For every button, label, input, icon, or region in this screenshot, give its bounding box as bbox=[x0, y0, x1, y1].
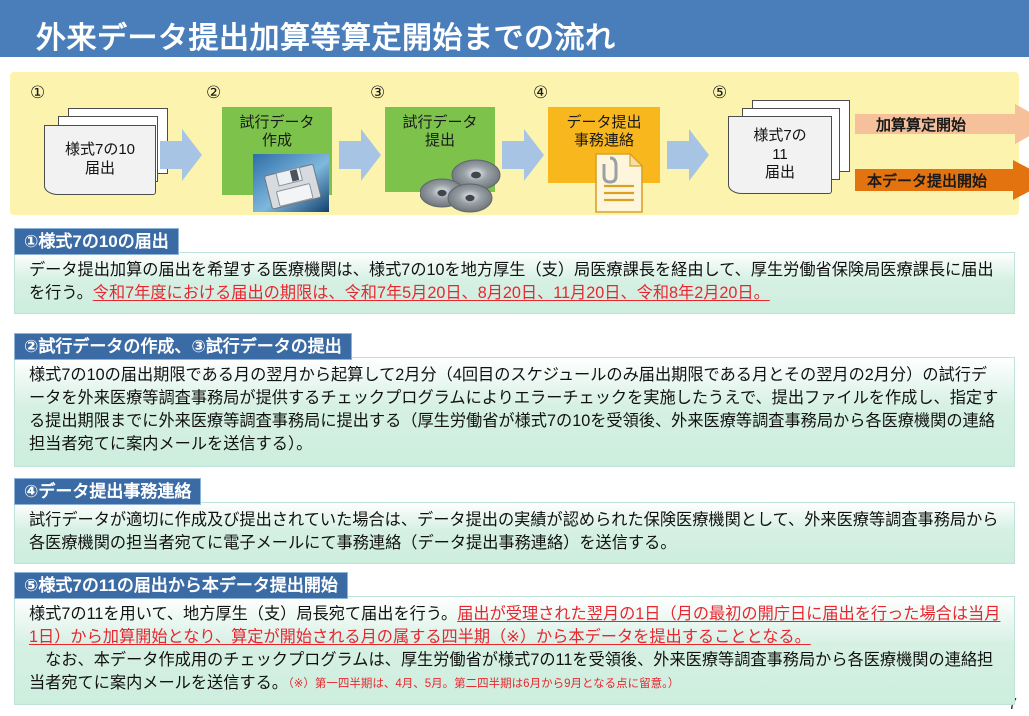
cd-discs-icon bbox=[420, 157, 502, 213]
flow-step-2-number: ② bbox=[206, 84, 221, 101]
section-1: ①様式7の10の届出 データ提出加算の届出を希望する医療機関は、様式7の10を地… bbox=[10, 228, 1019, 324]
flow-arrow-2-icon bbox=[339, 127, 381, 183]
section-1-heading: ①様式7の10の届出 bbox=[14, 228, 179, 255]
page-title: 外来データ提出加算等算定開始までの流れ bbox=[36, 13, 616, 57]
section-3-paragraph: 試行データが適切に作成及び提出されていた場合は、データ提出の実績が認められた保険… bbox=[29, 509, 1002, 555]
document-stack-icon: 様式7の10 届出 bbox=[40, 108, 170, 200]
flow-step-4-number: ④ bbox=[533, 84, 548, 101]
section-1-highlight: 令和7年度における届出の期限は、令和7年5月20日、8月20日、11月20日、令… bbox=[93, 284, 770, 302]
flow-step-5-number: ⑤ bbox=[712, 84, 727, 101]
flow-step-4-label: データ提出 事務連絡 bbox=[548, 114, 660, 150]
section-2-heading: ②試行データの作成、③試行データの提出 bbox=[14, 333, 352, 360]
flow-arrow-3-icon bbox=[502, 127, 544, 183]
result-label-1: 加算算定開始 bbox=[876, 114, 966, 135]
document-stack-icon-2: 様式7の 11 届出 bbox=[722, 100, 852, 200]
section-4-footnote: （※）第一四半期は、4月、5月。第二四半期は6月から9月となる点に留意。） bbox=[288, 678, 679, 690]
section-2: ②試行データの作成、③試行データの提出 様式7の10の届出期限である月の翌月から… bbox=[10, 333, 1019, 467]
section-4-paragraph-2: なお、本データ作成用のチェックプログラムは、厚生労働省が様式7の11を受領後、外… bbox=[29, 649, 1002, 695]
section-4-heading: ⑤様式7の11の届出から本データ提出開始 bbox=[14, 572, 348, 599]
section-4-paragraph-1: 様式7の11を用いて、地方厚生（支）局長宛て届出を行う。届出が受理された翌月の1… bbox=[29, 603, 1002, 649]
section-4-body: 様式7の11を用いて、地方厚生（支）局長宛て届出を行う。届出が受理された翌月の1… bbox=[14, 596, 1015, 705]
flow-step-3-label: 試行データ 提出 bbox=[385, 114, 495, 150]
section-2-body: 様式7の10の届出期限である月の翌月から起算して2月分（4回目のスケジュールのみ… bbox=[14, 357, 1015, 467]
section-2-paragraph: 様式7の10の届出期限である月の翌月から起算して2月分（4回目のスケジュールのみ… bbox=[29, 364, 1002, 456]
section-3: ④データ提出事務連絡 試行データが適切に作成及び提出されていた場合は、データ提出… bbox=[10, 478, 1019, 568]
flow-arrow-1-icon bbox=[160, 127, 202, 183]
slide-title-bar: 外来データ提出加算等算定開始までの流れ bbox=[0, 0, 1029, 57]
section-3-body: 試行データが適切に作成及び提出されていた場合は、データ提出の実績が認められた保険… bbox=[14, 502, 1015, 564]
process-flow-panel: ① 様式7の10 届出 ② 試行データ 作成 bbox=[10, 72, 1019, 215]
section-4: ⑤様式7の11の届出から本データ提出開始 様式7の11を用いて、地方厚生（支）局… bbox=[10, 572, 1019, 705]
flow-step-5-label: 様式7の 11 届出 bbox=[728, 116, 832, 194]
flow-step-2-label: 試行データ 作成 bbox=[222, 114, 332, 150]
section-3-heading: ④データ提出事務連絡 bbox=[14, 478, 201, 505]
result-label-2: 本データ提出開始 bbox=[867, 170, 987, 191]
flow-step-1-number: ① bbox=[30, 84, 45, 101]
section-1-paragraph: データ提出加算の届出を希望する医療機関は、様式7の10を地方厚生（支）局医療課長… bbox=[29, 259, 1002, 305]
flow-step-3-number: ③ bbox=[370, 84, 385, 101]
flow-arrow-4-icon bbox=[667, 127, 709, 183]
floppy-disk-icon bbox=[253, 154, 329, 212]
letter-document-icon bbox=[590, 152, 646, 214]
flow-step-1-label: 様式7の10 届出 bbox=[44, 125, 156, 195]
section-1-body: データ提出加算の届出を希望する医療機関は、様式7の10を地方厚生（支）局医療課長… bbox=[14, 252, 1015, 314]
